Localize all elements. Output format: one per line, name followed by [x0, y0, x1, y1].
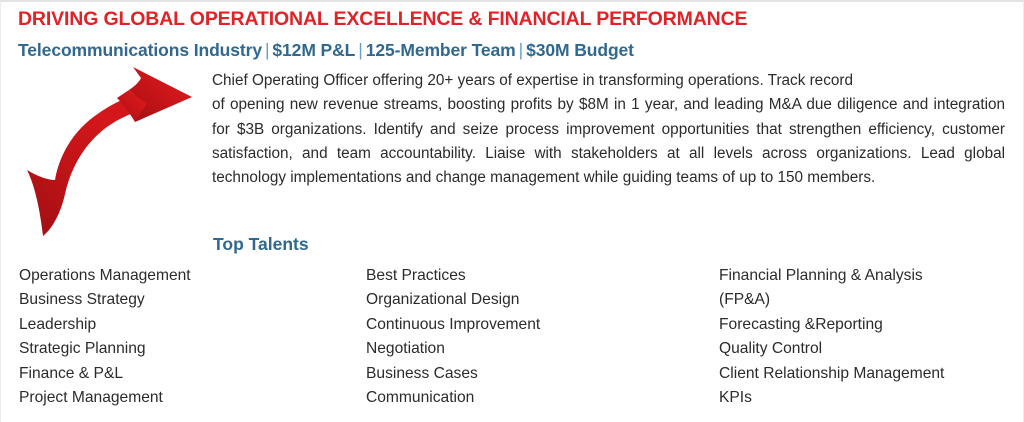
- talent-item: Business Cases: [366, 362, 711, 386]
- subtitle-separator: |: [262, 40, 272, 60]
- talent-item: Strategic Planning: [19, 337, 359, 361]
- subtitle-line: Telecommunications Industry|$12M P&L|125…: [18, 38, 1008, 62]
- talent-item: (FP&A): [719, 288, 1019, 312]
- subtitle-part-team: 125-Member Team: [366, 40, 516, 60]
- talent-item: Business Strategy: [19, 288, 359, 312]
- talent-item: Organizational Design: [366, 288, 711, 312]
- summary-lead-line: Chief Operating Officer offering 20+ yea…: [212, 69, 1005, 93]
- summary-body: of opening new revenue streams, boosting…: [212, 96, 1005, 186]
- curved-arrow-icon: [7, 60, 207, 240]
- resume-summary-page: DRIVING GLOBAL OPERATIONAL EXCELLENCE & …: [0, 0, 1024, 422]
- top-talents-heading: Top Talents: [213, 232, 309, 256]
- talent-item: Project Management: [19, 386, 359, 410]
- curved-arrow-graphic: [7, 60, 207, 240]
- page-title: DRIVING GLOBAL OPERATIONAL EXCELLENCE & …: [18, 7, 1008, 31]
- subtitle-part-pl: $12M P&L: [272, 40, 355, 60]
- subtitle-part-industry: Telecommunications Industry: [18, 40, 262, 60]
- subtitle-separator: |: [516, 40, 526, 60]
- talent-item: Financial Planning & Analysis: [719, 264, 1019, 288]
- subtitle-part-budget: $30M Budget: [526, 40, 634, 60]
- subtitle-separator: |: [355, 40, 365, 60]
- talents-column-1: Operations Management Business Strategy …: [19, 264, 359, 410]
- talent-item: Communication: [366, 386, 711, 410]
- top-talents-grid: Operations Management Business Strategy …: [1, 264, 1024, 414]
- talent-item: Quality Control: [719, 337, 1019, 361]
- talent-item: Continuous Improvement: [366, 313, 711, 337]
- talents-column-3: Financial Planning & Analysis (FP&A) For…: [719, 264, 1019, 410]
- talent-item: Best Practices: [366, 264, 711, 288]
- talent-item: Leadership: [19, 313, 359, 337]
- talent-item: Forecasting &Reporting: [719, 313, 1019, 337]
- talent-item: KPIs: [719, 386, 1019, 410]
- talents-column-2: Best Practices Organizational Design Con…: [366, 264, 711, 410]
- talent-item: Finance & P&L: [19, 362, 359, 386]
- professional-summary: Chief Operating Officer offering 20+ yea…: [212, 69, 1005, 190]
- talent-item: Operations Management: [19, 264, 359, 288]
- talent-item: Client Relationship Management: [719, 362, 1019, 386]
- talent-item: Negotiation: [366, 337, 711, 361]
